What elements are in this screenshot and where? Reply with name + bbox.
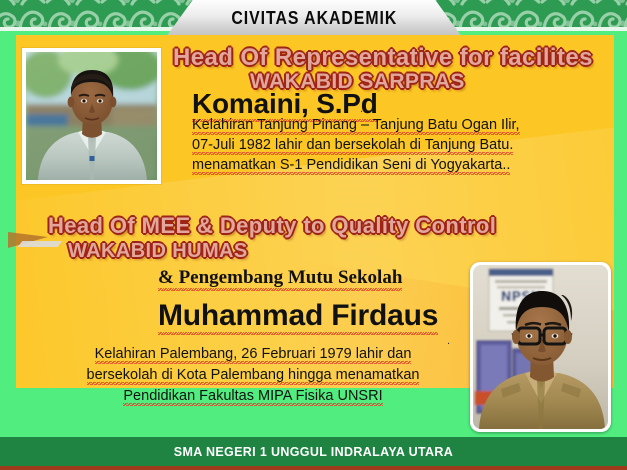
footer-accent-rule [0, 466, 627, 470]
photo-firdaus-image: NPSN [473, 265, 608, 429]
portrait-firdaus-illustration: NPSN [473, 265, 608, 429]
role-heading-firdaus-line1: Head Of MEE & Deputy to Quality Control [48, 213, 496, 239]
slide-title-text: CIVITAS AKADEMIK [231, 8, 397, 29]
bio-firdaus-line3: Pendidikan Fakultas MIPA Fisika UNSRI [123, 388, 382, 406]
photo-firdaus: NPSN [470, 262, 611, 432]
bio-komaini-line1: Kelahiran Tanjung Pinang – Tanjung Batu … [192, 117, 520, 135]
person-name-firdaus: Muhammad Firdaus [158, 299, 438, 333]
sub-role-firdaus-text: & Pengembang Mutu Sekolah [158, 267, 402, 291]
photo-komaini [22, 48, 161, 184]
bio-komaini-line3: menamatkan S-1 Pendidikan Seni di Yogyak… [192, 157, 510, 175]
arrow-decoration-tail-icon [18, 241, 63, 247]
portrait-komaini-illustration [26, 52, 157, 180]
slide-title-plaque: CIVITAS AKADEMIK [166, 0, 462, 37]
bio-komaini-line2: 07-Juli 1982 lahir dan bersekolah di Tan… [192, 137, 513, 155]
sub-role-firdaus: & Pengembang Mutu Sekolah [158, 267, 402, 289]
role-heading-komaini-line1: Head Of Representative for facilites [173, 44, 593, 72]
bio-firdaus-line1: Kelahiran Palembang, 26 Februari 1979 la… [95, 346, 412, 364]
photo-komaini-image [26, 52, 157, 180]
footer-school-name: SMA NEGERI 1 UNGGUL INDRALAYA UTARA [174, 445, 453, 459]
person-name-firdaus-text: Muhammad Firdaus [158, 299, 438, 335]
person-name-komaini-trailing-dot: . [360, 103, 363, 115]
bio-komaini: Kelahiran Tanjung Pinang – Tanjung Batu … [192, 115, 604, 175]
role-heading-firdaus-line2: WAKABID HUMAS [68, 240, 248, 263]
presentation-slide: CIVITAS AKADEMIK [0, 0, 627, 470]
bio-firdaus-line2: bersekolah di Kota Palembang hingga mena… [87, 367, 420, 385]
bio-firdaus: Kelahiran Palembang, 26 Februari 1979 la… [48, 344, 458, 407]
footer-bar: SMA NEGERI 1 UNGGUL INDRALAYA UTARA [0, 437, 627, 466]
